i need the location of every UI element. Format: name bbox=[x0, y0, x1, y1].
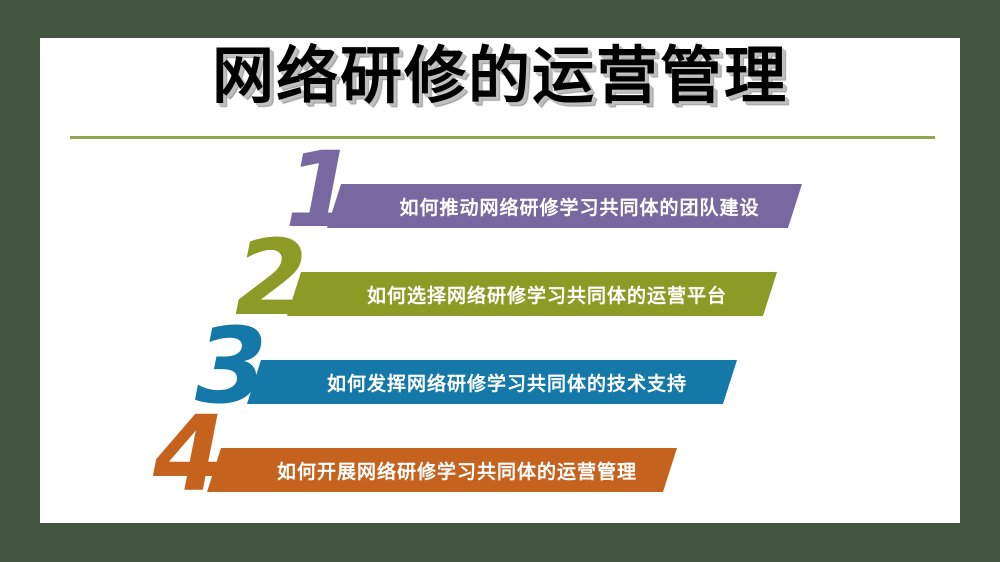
agenda-label-3: 如何发挥网络研修学习共同体的技术支持 bbox=[297, 369, 687, 396]
agenda-banner-3[interactable]: 如何发挥网络研修学习共同体的技术支持 bbox=[247, 360, 737, 404]
page-title: 网络研修的运营管理 bbox=[40, 46, 960, 108]
agenda-banner-4[interactable]: 如何开展网络研修学习共同体的运营管理 bbox=[207, 448, 677, 492]
agenda-label-1: 如何推动网络研修学习共同体的团队建设 bbox=[369, 193, 759, 220]
agenda-label-4: 如何开展网络研修学习共同体的运营管理 bbox=[247, 457, 637, 484]
agenda-label-2: 如何选择网络研修学习共同体的运营平台 bbox=[337, 281, 727, 308]
title-divider bbox=[70, 136, 935, 139]
slide-canvas: 网络研修的运营管理 如何推动网络研修学习共同体的团队建设 1 如何选择网络研修学… bbox=[0, 0, 1000, 562]
agenda-banner-2[interactable]: 如何选择网络研修学习共同体的运营平台 bbox=[287, 272, 777, 316]
slide-content-card: 网络研修的运营管理 如何推动网络研修学习共同体的团队建设 1 如何选择网络研修学… bbox=[40, 38, 960, 523]
agenda-banner-1[interactable]: 如何推动网络研修学习共同体的团队建设 bbox=[327, 184, 802, 228]
